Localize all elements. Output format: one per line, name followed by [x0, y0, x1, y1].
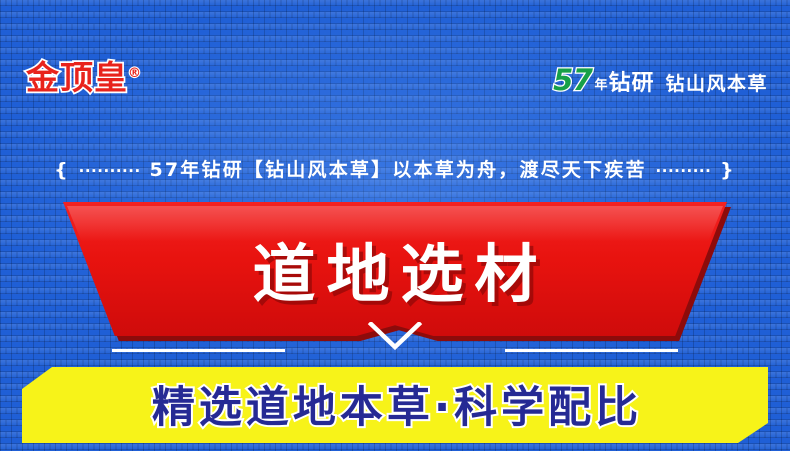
brand-logo-text: 金顶皇: [26, 58, 128, 97]
brand-name-label: 钻山风本草: [665, 75, 768, 94]
tagline-close-brace: }: [720, 159, 736, 181]
chevron-down-icon: [367, 322, 423, 350]
experience-headline: 57 年 钻研 钻山风本草: [553, 66, 768, 95]
years-unit-label: 年: [594, 79, 607, 92]
headline-text: 道地选材: [63, 202, 727, 336]
headline-banner: 道地选材: [63, 202, 727, 336]
tagline-left-dots: ··········: [79, 162, 141, 180]
divider-line-left: [112, 349, 285, 352]
subheadline-text: 精选道地本草·科学配比: [148, 373, 642, 435]
brand-logo: 金顶皇®: [26, 61, 142, 94]
subheadline-banner: 精选道地本草·科学配比: [22, 367, 768, 443]
promo-banner: 金顶皇® 57 年 钻研 钻山风本草 { ·········· 57年钻研【钻山…: [0, 0, 790, 451]
years-number: 57: [553, 66, 592, 95]
tagline-right-dots: ·········: [656, 162, 712, 180]
tagline-text: 57年钻研【钻山风本草】以本草为舟，渡尽天下疾苦: [149, 159, 646, 181]
registered-trademark-icon: ®: [128, 66, 142, 81]
tagline: { ·········· 57年钻研【钻山风本草】以本草为舟，渡尽天下疾苦 ··…: [0, 155, 790, 182]
years-research-label: 钻研: [608, 73, 654, 95]
tagline-open-brace: {: [54, 159, 70, 181]
divider-line-right: [505, 349, 678, 352]
